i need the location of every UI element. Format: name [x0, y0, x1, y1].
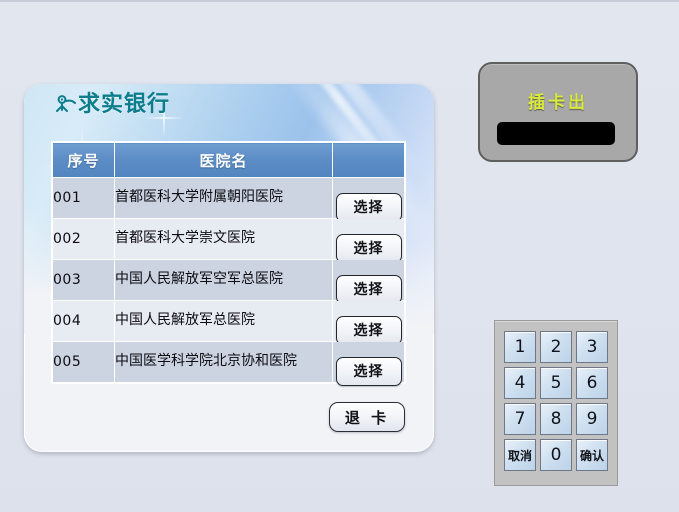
hospital-name: 中国人民解放军总医院: [115, 301, 333, 342]
keypad-grid: 1 2 3 4 5 6 7 8 9 取消 0 确认: [504, 331, 608, 471]
select-button[interactable]: 选择: [336, 357, 402, 386]
card-reader-label: 插卡出: [480, 88, 636, 113]
card-slot[interactable]: [497, 122, 615, 145]
row-number: 004: [53, 301, 115, 342]
row-number: 001: [53, 178, 115, 219]
atm-screen: 求实银行 序号 医院名 001 首都医科大学附属朝阳医院 选择 002 首都: [0, 0, 679, 512]
hospital-name: 中国人民解放军空军总医院: [115, 260, 333, 301]
row-action-cell: 选择: [333, 260, 405, 301]
select-button[interactable]: 选择: [336, 193, 402, 222]
row-action-cell: 选择: [333, 219, 405, 260]
table-row: 005 中国医学科学院北京协和医院 选择: [53, 342, 405, 383]
key-2[interactable]: 2: [540, 331, 572, 363]
row-action-cell: 选择: [333, 301, 405, 342]
bank-logo: 求实银行: [54, 93, 170, 117]
column-header-name: 医院名: [115, 143, 333, 178]
key-5[interactable]: 5: [540, 367, 572, 399]
keypad-panel: 1 2 3 4 5 6 7 8 9 取消 0 确认: [494, 320, 618, 486]
hospital-name: 中国医学科学院北京协和医院: [115, 342, 333, 383]
key-4[interactable]: 4: [504, 367, 536, 399]
table-row: 004 中国人民解放军总医院 选择: [53, 301, 405, 342]
select-button[interactable]: 选择: [336, 234, 402, 263]
row-number: 002: [53, 219, 115, 260]
select-button[interactable]: 选择: [336, 275, 402, 304]
key-1[interactable]: 1: [504, 331, 536, 363]
table-row: 003 中国人民解放军空军总医院 选择: [53, 260, 405, 301]
card-reader: 插卡出: [478, 62, 638, 162]
table-header-row: 序号 医院名: [53, 143, 405, 178]
hospital-list-table: 序号 医院名 001 首都医科大学附属朝阳医院 选择 002 首都医科大学崇文医…: [52, 142, 405, 383]
table-row: 002 首都医科大学崇文医院 选择: [53, 219, 405, 260]
bank-name-text: 求实银行: [78, 94, 170, 116]
person-logo-icon: [54, 93, 76, 117]
key-9[interactable]: 9: [576, 403, 608, 435]
row-number: 005: [53, 342, 115, 383]
key-cancel[interactable]: 取消: [504, 439, 536, 471]
hospital-name: 首都医科大学附属朝阳医院: [115, 178, 333, 219]
key-confirm[interactable]: 确认: [576, 439, 608, 471]
key-8[interactable]: 8: [540, 403, 572, 435]
hospital-name: 首都医科大学崇文医院: [115, 219, 333, 260]
row-action-cell: 选择: [333, 178, 405, 219]
column-header-no: 序号: [53, 143, 115, 178]
table-row: 001 首都医科大学附属朝阳医院 选择: [53, 178, 405, 219]
key-7[interactable]: 7: [504, 403, 536, 435]
key-0[interactable]: 0: [540, 439, 572, 471]
row-number: 003: [53, 260, 115, 301]
eject-card-button[interactable]: 退 卡: [329, 402, 405, 432]
key-6[interactable]: 6: [576, 367, 608, 399]
key-3[interactable]: 3: [576, 331, 608, 363]
column-header-action: [333, 143, 405, 178]
row-action-cell: 选择: [333, 342, 405, 383]
select-button[interactable]: 选择: [336, 316, 402, 345]
